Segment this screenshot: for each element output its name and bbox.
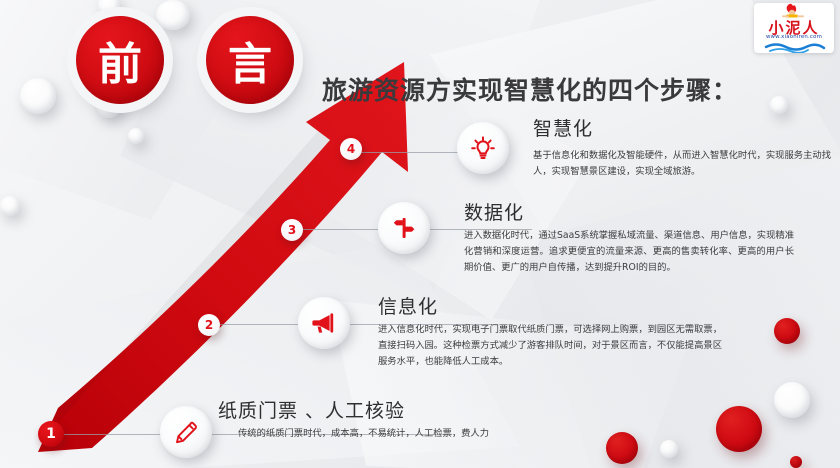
slide-canvas: 前 言 旅游资源方实现智慧化的四个步骤： 小泥人 www.xiaoniren.c…: [0, 0, 840, 468]
step-body-2: 进入信息化时代，实现电子门票取代纸质门票，可选择网上购票，到园区无需取票，直接扫…: [378, 322, 722, 370]
step-number-badge-4[interactable]: 4: [340, 138, 362, 160]
step-title-2: 信息化: [378, 292, 438, 319]
title-badge-yan: 言: [206, 16, 294, 104]
signpost-icon: [391, 215, 417, 241]
step-number-badge-1[interactable]: 1: [38, 421, 64, 447]
step-number-3: 3: [288, 223, 296, 237]
step-number-badge-3[interactable]: 3: [281, 219, 303, 241]
step-icon-bubble-4[interactable]: [457, 122, 509, 174]
brand-logo[interactable]: 小泥人 www.xiaoniren.com: [754, 3, 834, 53]
step-icon-bubble-3[interactable]: [378, 202, 430, 254]
title-badge-char: 前: [98, 28, 142, 92]
megaphone-icon: [310, 309, 338, 337]
step-body-4: 基于信息化和数据化及智能硬件，从而进入智慧化时代，实现服务主动找人，实现智慧景区…: [533, 148, 831, 180]
step-title-1: 纸质门票 、人工核验: [218, 396, 405, 423]
step-number-badge-2[interactable]: 2: [198, 314, 220, 336]
page-title: 旅游资源方实现智慧化的四个步骤：: [322, 71, 738, 107]
logo-url: www.xiaoniren.com: [754, 34, 834, 40]
lightbulb-icon: [469, 134, 497, 162]
step-body-3: 进入数据化时代，通过SaaS系统掌握私域流量、渠道信息、用户信息，实现精准化营销…: [464, 228, 794, 276]
step-title-4: 智慧化: [533, 114, 593, 141]
step-number-1: 1: [46, 426, 56, 442]
title-badge-char: 言: [228, 28, 272, 92]
step-icon-bubble-1[interactable]: [160, 406, 212, 458]
step-number-2: 2: [205, 318, 213, 332]
step-body-1: 传统的纸质门票时代，成本高，不易统计，人工检票，费人力: [238, 426, 538, 442]
step-number-4: 4: [347, 142, 355, 156]
step-icon-bubble-2[interactable]: [298, 297, 350, 349]
wave-icon: [754, 41, 834, 53]
step-title-3: 数据化: [464, 198, 524, 225]
pencil-icon: [172, 418, 200, 446]
title-badge-qian: 前: [76, 16, 164, 104]
